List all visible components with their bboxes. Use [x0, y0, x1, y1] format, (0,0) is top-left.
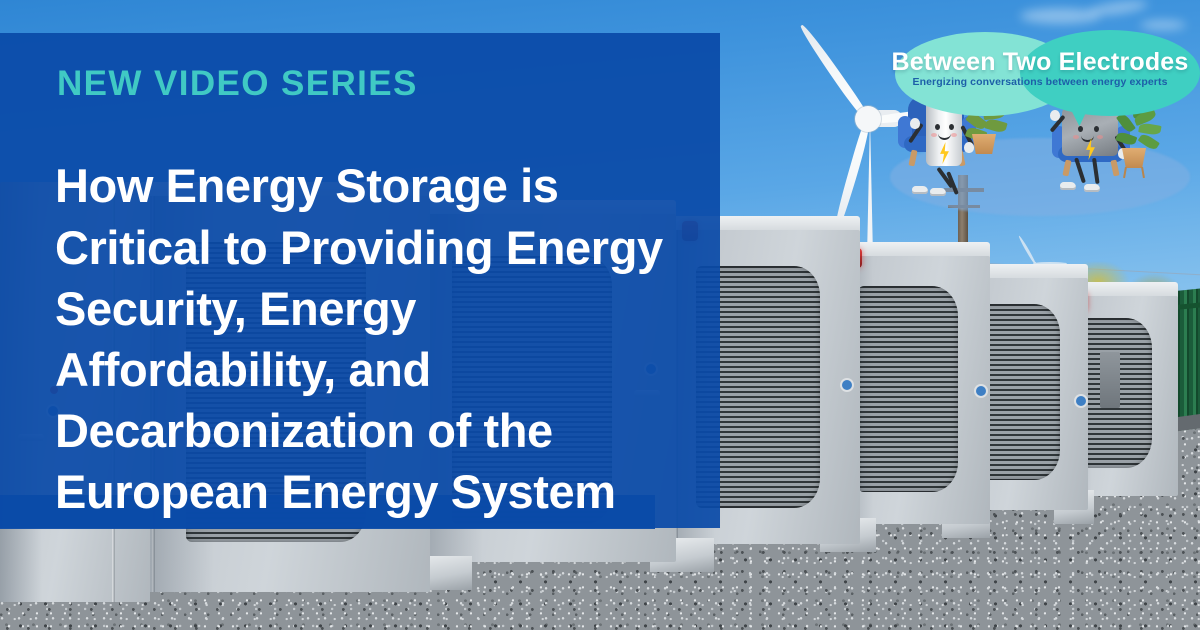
mascot-shoe: [1060, 182, 1076, 190]
eyebrow-label: NEW VIDEO SERIES: [57, 66, 418, 101]
plant-stand: [1124, 167, 1144, 178]
mascot-shoe: [1084, 184, 1100, 192]
mascot-shoe: [930, 188, 946, 196]
social-share-card: NEW VIDEO SERIES How Energy Storage is C…: [0, 0, 1200, 630]
mascot-leg: [1074, 157, 1086, 183]
speech-bubble-tail: [1067, 99, 1096, 128]
page-title: How Energy Storage is Critical to Provid…: [55, 155, 665, 522]
podcast-tagline: Energizing conversations between energy …: [880, 76, 1200, 88]
mascot-hand: [1050, 110, 1060, 121]
mascot-leg: [1092, 158, 1100, 184]
potted-plant: [1118, 110, 1154, 168]
podcast-logo: Between Two Electrodes Energizing conver…: [880, 28, 1200, 228]
mascot-hand: [910, 118, 920, 129]
mascot-shoe: [912, 186, 928, 194]
podcast-title: Between Two Electrodes: [880, 48, 1200, 77]
